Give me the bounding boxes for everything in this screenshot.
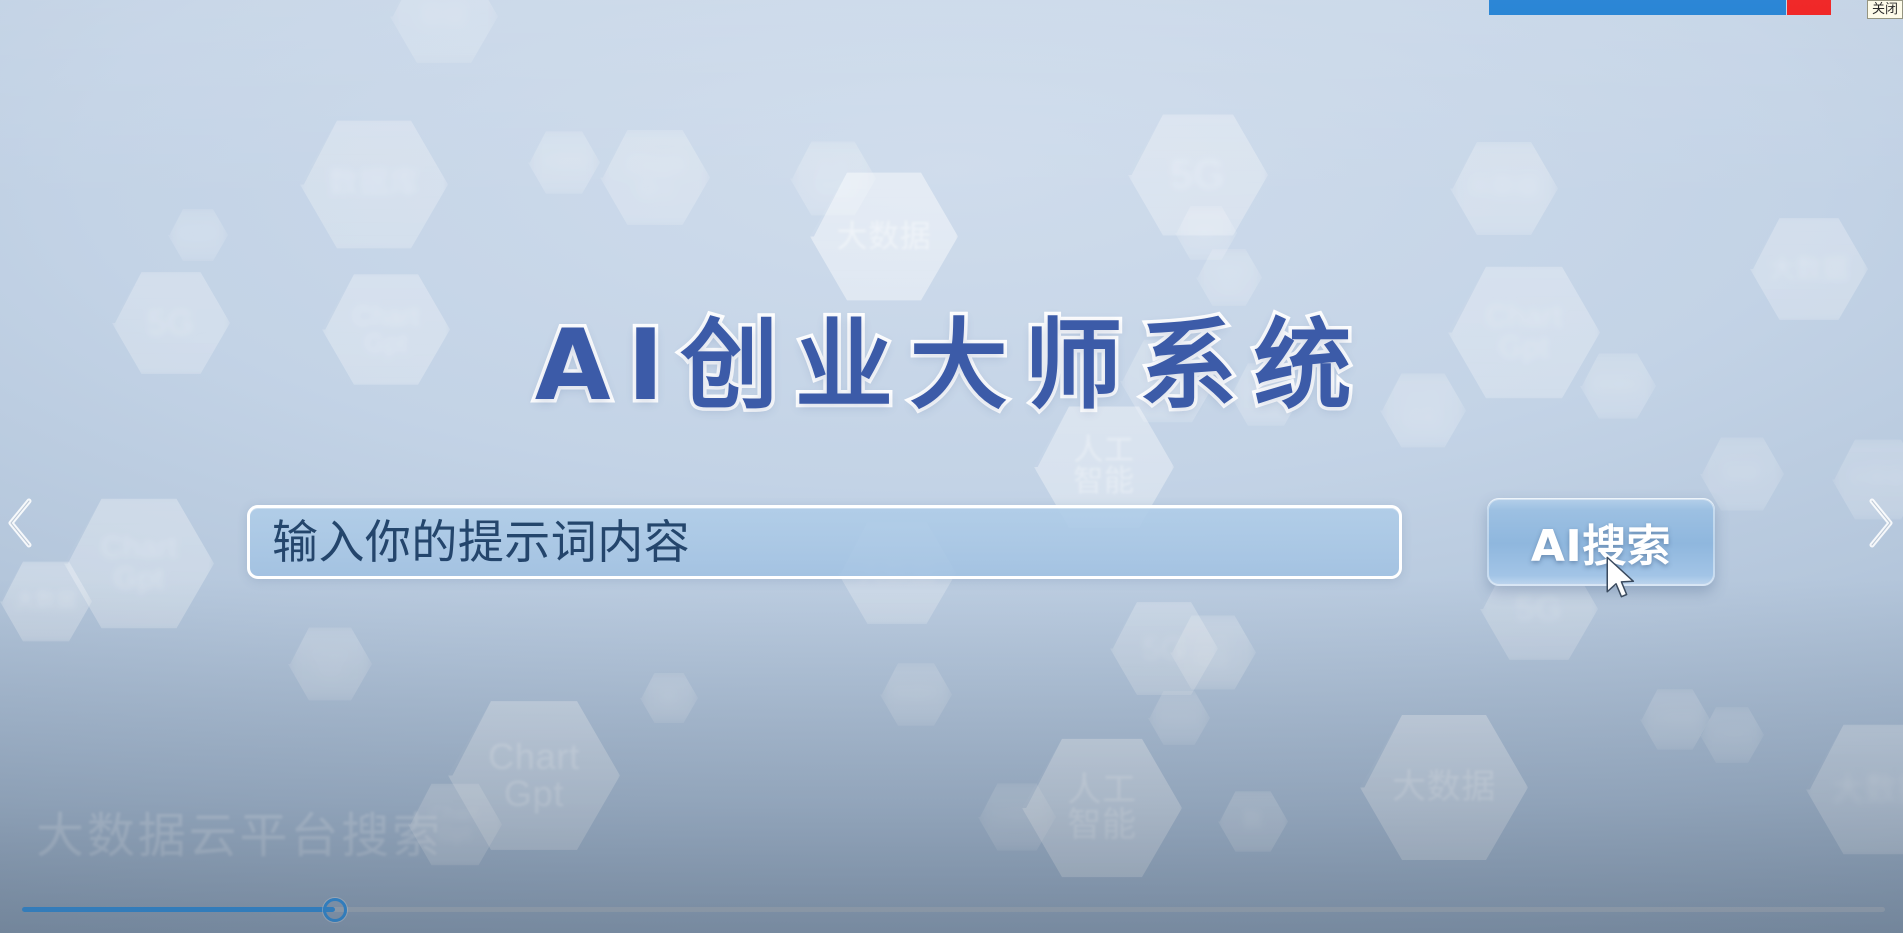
hex-tag: Chart Gpt <box>448 698 620 853</box>
hex-outline <box>1218 790 1288 853</box>
page-title: AI创业大师系统 <box>0 286 1903 428</box>
hex-outline <box>810 170 958 303</box>
hex-outline <box>790 140 876 217</box>
hex-outline <box>300 118 448 251</box>
hex-outline <box>408 782 502 867</box>
hex-outline <box>1700 706 1764 764</box>
hex-tag: 互联网 <box>978 782 1056 852</box>
hex-outline <box>880 662 952 727</box>
hex-outline <box>1170 614 1256 691</box>
window-chrome: 关闭 <box>1423 0 1903 15</box>
hex-outline <box>1148 690 1210 746</box>
hex-tag: 大数据 <box>528 130 600 195</box>
hex-tag: 5G <box>1110 600 1218 697</box>
hex-tag: 大数据 <box>810 170 958 303</box>
hex-outline <box>1450 140 1558 237</box>
hex-outline <box>1110 600 1218 697</box>
hex-tag: 数 <box>1218 790 1288 853</box>
close-tooltip: 关闭 <box>1867 0 1903 19</box>
hex-tag: 数据库 <box>880 662 952 727</box>
hex-tag: 数据库 <box>300 118 448 251</box>
hex-tag: 大数据 <box>1360 712 1528 863</box>
hex-outline <box>168 208 228 262</box>
player-controls <box>0 877 1903 933</box>
hex-tag: Chart Gpt <box>408 782 502 867</box>
search-row: 输入你的提示词内容 AI搜索 <box>0 505 1903 589</box>
close-button[interactable] <box>1787 0 1831 15</box>
hex-outline <box>1128 112 1268 238</box>
hex-outline <box>1700 436 1784 512</box>
hex-tag: 数据库 <box>168 208 228 262</box>
hexagon-background-layer: 数据库大数据Chart G t人工 智能大数据5G大数据5GChart Gpt5… <box>0 0 1903 933</box>
hex-tag: 大数据 <box>1806 722 1903 857</box>
hex-tag: 数 <box>640 672 698 724</box>
hex-tag: 人工 智能 <box>1170 614 1256 691</box>
progress-blue-bar <box>1489 0 1786 15</box>
hex-outline <box>1175 205 1237 261</box>
ai-search-button[interactable]: AI搜索 <box>1487 498 1715 586</box>
hex-tag: 大数据 <box>1640 688 1710 751</box>
chevron-left-icon[interactable] <box>2 495 42 551</box>
hex-tag: Chart Gpt <box>288 626 372 702</box>
ai-master-system-screen: 数据库大数据Chart G t人工 智能大数据5G大数据5GChart Gpt5… <box>0 0 1903 933</box>
seek-fill <box>22 907 335 912</box>
seek-track[interactable] <box>22 907 1885 912</box>
hex-tag: Chart G t <box>600 128 710 227</box>
hex-outline <box>1640 688 1710 751</box>
hex-tag: 人工 智能 <box>790 140 876 217</box>
hex-tag: 5G <box>1128 112 1268 238</box>
watermark-text: 大数据云平台搜索 <box>36 796 443 866</box>
hex-outline <box>528 130 600 195</box>
hex-tag: 数据 <box>1700 436 1784 512</box>
hex-tag: 人工 智能 <box>1022 736 1182 880</box>
hex-outline <box>600 128 710 227</box>
hex-outline <box>978 782 1056 852</box>
hex-tag: 5G <box>1175 205 1237 261</box>
chevron-right-icon[interactable] <box>1859 495 1899 551</box>
hex-tag: 数据 <box>390 0 498 65</box>
hex-outline <box>448 698 620 853</box>
hex-outline <box>288 626 372 702</box>
hex-outline <box>640 672 698 724</box>
hex-tag: 大数据 <box>1450 140 1558 237</box>
hex-outline <box>1806 722 1903 857</box>
hex-tag: 数据库 <box>1148 690 1210 746</box>
hex-outline <box>390 0 498 65</box>
prompt-input[interactable]: 输入你的提示词内容 <box>247 505 1402 579</box>
hex-outline <box>1360 712 1528 863</box>
prompt-placeholder: 输入你的提示词内容 <box>272 519 690 565</box>
hex-tag: 启程网 <box>1700 706 1764 764</box>
seek-handle[interactable] <box>323 898 347 922</box>
hex-outline <box>1022 736 1182 880</box>
